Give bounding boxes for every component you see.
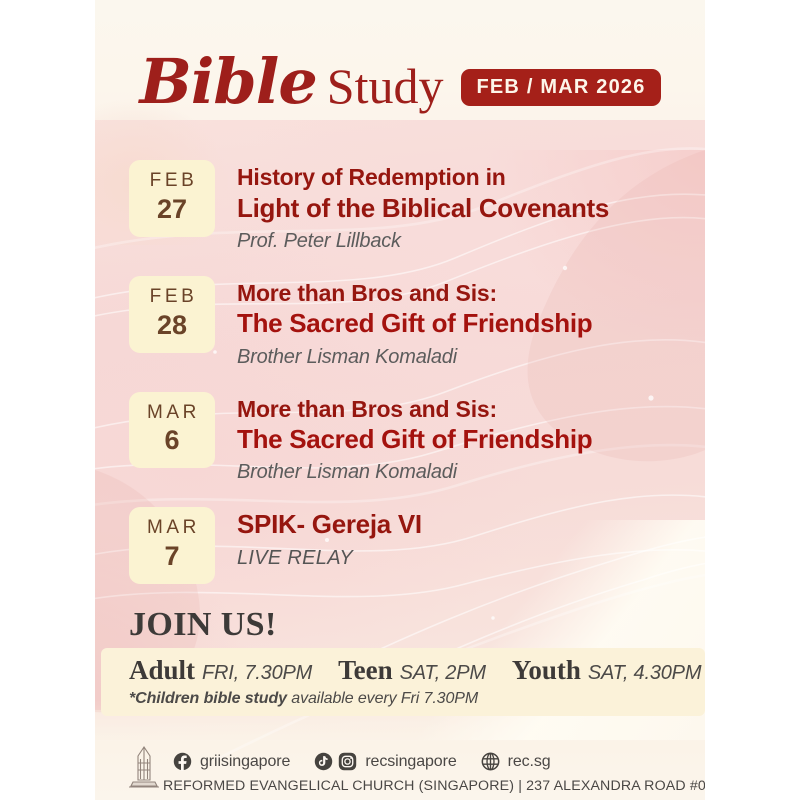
church-logo-icon <box>127 746 161 790</box>
schedule-list: FEB 27 History of Redemption in Light of… <box>95 160 705 606</box>
children-study-note-bold: *Children bible study <box>129 690 287 707</box>
event-row: MAR 6 More than Bros and Sis: The Sacred… <box>95 392 705 486</box>
date-badge: MAR 7 <box>129 507 215 584</box>
social-links: griisingapore recsi <box>173 752 575 771</box>
tiktok-icon[interactable] <box>314 752 333 771</box>
page-title-script: Bible <box>139 51 316 113</box>
event-row: FEB 27 History of Redemption in Light of… <box>95 160 705 254</box>
event-speaker: Prof. Peter Lillback <box>237 228 705 254</box>
join-us-times: Adult FRI, 7.30PM Teen SAT, 2PM Youth SA… <box>129 655 705 686</box>
social-group-facebook[interactable]: griisingapore <box>173 752 290 771</box>
event-details: History of Redemption in Light of the Bi… <box>237 160 705 254</box>
time-slot: Youth SAT, 4.30PM <box>512 655 701 686</box>
bible-study-poster: Bible Study FEB / MAR 2026 FEB 27 Histor… <box>95 0 705 800</box>
date-day: 28 <box>129 310 215 341</box>
time-slot-value: SAT, 4.30PM <box>588 662 701 685</box>
event-title-line1: More than Bros and Sis: <box>237 396 705 424</box>
date-day: 7 <box>129 541 215 572</box>
facebook-icon[interactable] <box>173 752 192 771</box>
event-details: More than Bros and Sis: The Sacred Gift … <box>237 276 705 370</box>
globe-icon[interactable] <box>481 752 500 771</box>
event-speaker: Brother Lisman Komaladi <box>237 459 705 485</box>
social-group-recsingapore[interactable]: recsingapore <box>314 752 456 771</box>
period-badge: FEB / MAR 2026 <box>461 69 660 106</box>
date-badge: FEB 28 <box>129 276 215 353</box>
time-slot: Adult FRI, 7.30PM <box>129 655 312 686</box>
event-title-line2: Light of the Biblical Covenants <box>237 193 705 224</box>
time-slot-name: Adult <box>129 655 195 686</box>
poster-header: Bible Study FEB / MAR 2026 <box>95 46 705 122</box>
event-title-line2: SPIK- Gereja VI <box>237 509 705 540</box>
time-slot-value: FRI, 7.30PM <box>202 662 312 685</box>
time-slot: Teen SAT, 2PM <box>338 655 486 686</box>
event-details: More than Bros and Sis: The Sacred Gift … <box>237 392 705 486</box>
social-handle[interactable]: griisingapore <box>200 753 290 771</box>
social-handle[interactable]: rec.sg <box>508 753 551 771</box>
page-title-roman: Study <box>327 61 444 111</box>
children-study-note-rest: available every Fri 7.30PM <box>287 690 478 707</box>
children-study-note: *Children bible study available every Fr… <box>129 690 478 708</box>
event-title-line1: History of Redemption in <box>237 164 705 192</box>
instagram-icon[interactable] <box>338 752 357 771</box>
event-row: MAR 7 SPIK- Gereja VI LIVE RELAY <box>95 507 705 584</box>
date-month: MAR <box>129 402 215 424</box>
event-row: FEB 28 More than Bros and Sis: The Sacre… <box>95 276 705 370</box>
time-slot-name: Teen <box>338 655 393 686</box>
date-day: 27 <box>129 194 215 225</box>
date-month: FEB <box>129 286 215 308</box>
event-speaker: LIVE RELAY <box>237 545 705 571</box>
event-title-line1: More than Bros and Sis: <box>237 280 705 308</box>
social-handle[interactable]: recsingapore <box>365 753 456 771</box>
event-title-line2: The Sacred Gift of Friendship <box>237 308 705 339</box>
time-slot-value: SAT, 2PM <box>400 662 486 685</box>
event-title-line2: The Sacred Gift of Friendship <box>237 424 705 455</box>
date-day: 6 <box>129 425 215 456</box>
date-month: MAR <box>129 517 215 539</box>
date-month: FEB <box>129 170 215 192</box>
date-badge: MAR 6 <box>129 392 215 469</box>
time-slot-name: Youth <box>512 655 581 686</box>
event-speaker: Brother Lisman Komaladi <box>237 344 705 370</box>
church-address: REFORMED EVANGELICAL CHURCH (SINGAPORE) … <box>163 778 705 794</box>
date-badge: FEB 27 <box>129 160 215 237</box>
join-us-heading: JOIN US! <box>129 608 277 642</box>
social-group-website[interactable]: rec.sg <box>481 752 551 771</box>
event-details: SPIK- Gereja VI LIVE RELAY <box>237 507 705 570</box>
